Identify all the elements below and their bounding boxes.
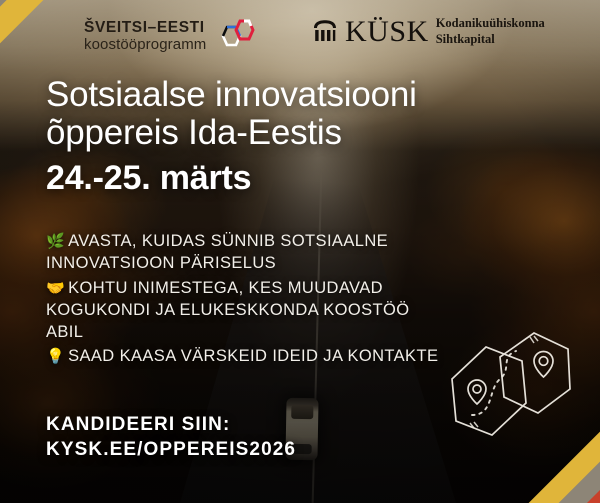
list-item-text: AVASTA, KUIDAS SÜNNIB SOTSIAALNE INNOVAT…: [46, 232, 388, 272]
kysk-sub-line1: Kodanikuühiskonna: [436, 16, 545, 32]
list-item-text: KOHTU INIMESTEGA, KES MUUDAVAD KOGUKONDI…: [46, 279, 409, 342]
poster-canvas: ŠVEITSI–EESTI koostööprogramm KÜ: [0, 0, 600, 503]
benefits-list: 🌿AVASTA, KUIDAS SÜNNIB SOTSIAALNE INNOVA…: [46, 230, 446, 368]
sveitsi-eesti-logo: ŠVEITSI–EESTI koostööprogramm: [84, 15, 258, 57]
page-title: Sotsiaalse innovatsiooni õppereis Ida-Ee…: [46, 76, 526, 152]
kysk-logo: KÜSK Kodanikuühiskonna Sihtkapital: [312, 16, 545, 47]
cta-label: KANDIDEERI SIIN:: [46, 413, 296, 438]
hexagon-map-route-graphic: [442, 327, 582, 447]
list-item: 💡SAAD KAASA VÄRSKEID IDEID JA KONTAKTE: [46, 345, 446, 367]
list-item-text: SAAD KAASA VÄRSKEID IDEID JA KONTAKTE: [68, 347, 438, 365]
logo-bar: ŠVEITSI–EESTI koostööprogramm KÜ: [0, 0, 600, 62]
kysk-wordmark: KÜSK: [345, 17, 429, 47]
interlocking-hexagons-icon: [214, 15, 258, 57]
list-item: 🤝KOHTU INIMESTEGA, KES MUUDAVAD KOGUKOND…: [46, 277, 446, 344]
lightbulb-emoji: 💡: [46, 348, 65, 365]
event-date: 24.-25. märts: [46, 160, 580, 197]
call-to-action[interactable]: KANDIDEERI SIIN: KYSK.EE/OPPEREIS2026: [46, 413, 296, 462]
headline-line2: õppereis Ida-Eestis: [46, 114, 526, 152]
sveitsi-logo-line2: koostööprogramm: [84, 37, 206, 52]
cta-url[interactable]: KYSK.EE/OPPEREIS2026: [46, 438, 296, 463]
sveitsi-logo-line1: ŠVEITSI–EESTI: [84, 20, 206, 36]
handshake-emoji: 🤝: [46, 280, 65, 297]
list-item: 🌿AVASTA, KUIDAS SÜNNIB SOTSIAALNE INNOVA…: [46, 230, 446, 275]
classical-building-icon: [312, 19, 338, 45]
kysk-sub-line2: Sihtkapital: [436, 32, 545, 48]
seedling-emoji: 🌿: [46, 233, 65, 250]
headline-line1: Sotsiaalse innovatsiooni: [46, 76, 526, 114]
main-content: Sotsiaalse innovatsiooni õppereis Ida-Ee…: [46, 76, 580, 370]
